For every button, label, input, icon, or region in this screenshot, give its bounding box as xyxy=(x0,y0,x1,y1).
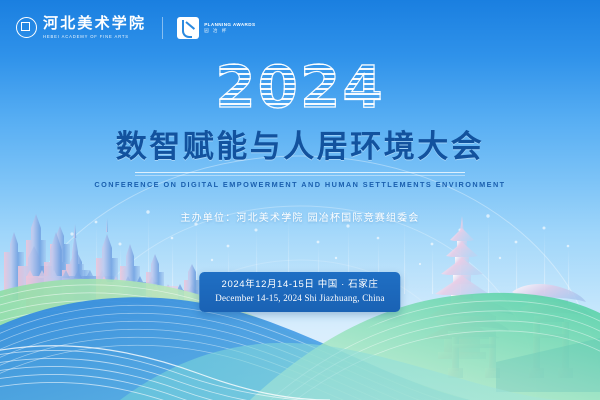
title-rules xyxy=(0,172,600,176)
awards-name-cn: 园 冶 杯 xyxy=(204,28,255,34)
rule-top xyxy=(135,172,465,173)
conference-poster: 河北美术学院 HEBEI ACADEMY OF FINE ARTS PLANNI… xyxy=(0,0,600,400)
subtitle-english: CONFERENCE ON DIGITAL EMPOWERMENT AND HU… xyxy=(0,180,600,189)
academy-logo[interactable]: 河北美术学院 HEBEI ACADEMY OF FINE ARTS xyxy=(16,17,146,39)
header-bar: 河北美术学院 HEBEI ACADEMY OF FINE ARTS PLANNI… xyxy=(0,0,600,56)
hill-blue xyxy=(0,297,470,400)
castle-annex-icon xyxy=(148,286,178,312)
line-waves-icon xyxy=(0,350,330,400)
page-title: 数智赋能与人居环境大会 xyxy=(0,130,600,164)
awards-logo[interactable]: PLANNING AWARDS 园 冶 杯 xyxy=(177,17,255,39)
castle-silhouette-icon xyxy=(4,214,200,312)
rule-bottom xyxy=(135,175,465,176)
hill-blue-lines xyxy=(0,305,470,400)
planning-awards-mark-icon xyxy=(177,17,199,39)
organizer-line: 主办单位：河北美术学院 园冶杯国际竞赛组委会 xyxy=(0,209,600,224)
circle-seal-icon xyxy=(16,17,37,38)
date-english: December 14-15, 2024 Shi Jiazhuang, Chin… xyxy=(215,292,384,305)
date-badge: 2024年12月14-15日 中国 · 石家庄 December 14-15, … xyxy=(199,272,400,312)
academy-name-cn: 河北美术学院 xyxy=(43,17,146,32)
academy-logo-text: 河北美术学院 HEBEI ACADEMY OF FINE ARTS xyxy=(43,17,146,39)
academy-name-en: HEBEI ACADEMY OF FINE ARTS xyxy=(43,35,146,39)
year-heading: 2024 xyxy=(0,58,600,116)
wave-highlight xyxy=(0,346,330,400)
center-peak-icon xyxy=(218,318,238,336)
hill-green-right-lines xyxy=(250,301,600,400)
gate-base-shadow xyxy=(496,338,600,392)
chinese-gate-silhouette-icon xyxy=(434,284,594,378)
date-chinese: 2024年12月14-15日 中国 · 石家庄 xyxy=(215,278,384,292)
pagoda-silhouette-icon xyxy=(424,216,500,359)
awards-logo-text: PLANNING AWARDS 园 冶 杯 xyxy=(204,22,255,33)
logo-divider xyxy=(162,17,163,39)
hill-teal xyxy=(120,343,560,400)
